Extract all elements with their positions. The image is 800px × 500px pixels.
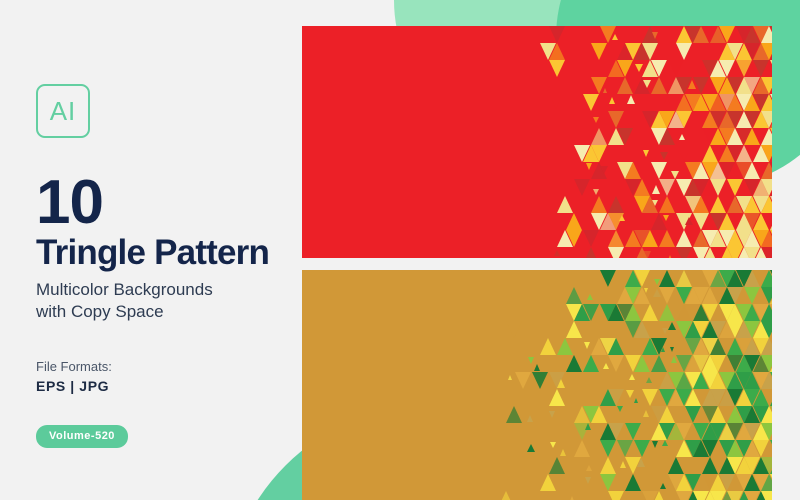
triangle-pattern-green-gold [302,270,772,500]
page-subtitle-line-2: with Copy Space [36,301,298,323]
file-formats-label: File Formats: [36,357,298,377]
ai-badge-label: AI [50,98,77,124]
page-title: Tringle Pattern [36,235,298,272]
info-panel: AI 10 Tringle Pattern Multicolor Backgro… [36,84,298,448]
preview-panel-green-gold[interactable] [302,270,772,500]
poster-canvas: AI 10 Tringle Pattern Multicolor Backgro… [0,0,800,500]
file-formats-block: File Formats: EPS | JPG [36,357,298,398]
adobe-illustrator-badge-icon: AI [36,84,90,138]
file-formats-value: EPS | JPG [36,376,298,397]
page-subtitle-line-1: Multicolor Backgrounds [36,279,298,301]
triangle-pattern-red [302,26,772,258]
page-subtitle: Multicolor Backgrounds with Copy Space [36,279,298,323]
preview-panel-red[interactable] [302,26,772,258]
volume-badge: Volume-520 [36,425,128,448]
item-count: 10 [36,174,298,233]
